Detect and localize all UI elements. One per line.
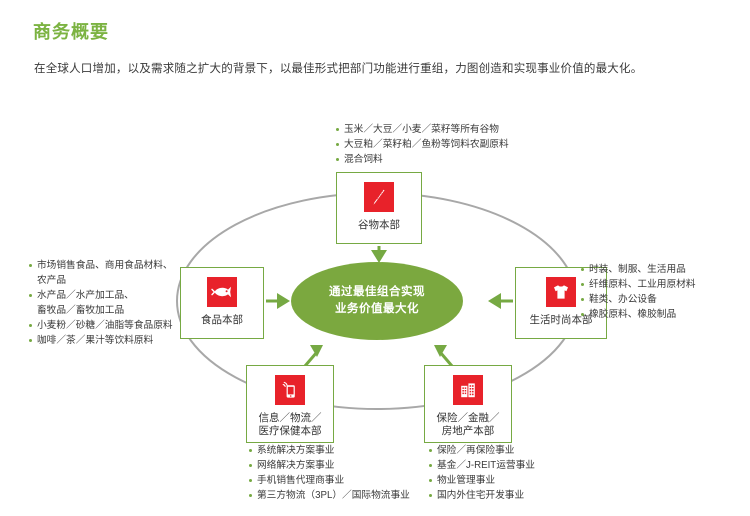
list-item: 物业管理事业 <box>428 473 608 488</box>
arrow-food-to-center <box>266 293 290 309</box>
list-item: 水产品／水产加工品、 畜牧品／畜牧加工品 <box>28 288 188 318</box>
list-item: 大豆粕／菜籽粕／鱼粉等饲料农副原料 <box>335 137 565 152</box>
list-item: 咖啡／茶／果汁等饮料原料 <box>28 333 188 348</box>
list-item: 市场销售食品、商用食品材料、 农产品 <box>28 258 188 288</box>
list-item: 国内外住宅开发事业 <box>428 488 608 503</box>
mobile-phone-icon <box>275 375 305 405</box>
list-item: 系统解决方案事业 <box>248 443 428 458</box>
unit-label-grain: 谷物本部 <box>358 219 400 232</box>
buildings-icon <box>453 375 483 405</box>
list-item: 基金／J-REIT运营事业 <box>428 458 608 473</box>
business-overview-diagram: 通过最佳组合实现 业务价值最大化 谷物本部 食品本部 生 <box>0 100 750 516</box>
page-title: 商务概要 <box>33 18 109 44</box>
unit-box-grain[interactable]: 谷物本部 <box>336 172 422 244</box>
arrow-finance-to-center <box>434 345 452 366</box>
list-item: 纤维原料、工业用原材料 <box>580 277 750 292</box>
list-item: 时装、制服、生活用品 <box>580 262 750 277</box>
list-item: 第三方物流（3PL）／国际物流事业 <box>248 488 428 503</box>
unit-label-ict: 信息／物流／ 医疗保健本部 <box>259 412 322 438</box>
tshirt-icon <box>546 277 576 307</box>
list-item: 混合饲料 <box>335 152 565 167</box>
center-text-line1: 通过最佳组合实现 <box>329 284 425 301</box>
fish-icon <box>207 277 237 307</box>
list-item: 鞋类、办公设备 <box>580 292 750 307</box>
arrow-ict-to-center <box>305 345 323 366</box>
bullet-list-ict: 系统解决方案事业 网络解决方案事业 手机销售代理商事业 第三方物流（3PL）／国… <box>248 443 428 503</box>
list-item: 保险／再保险事业 <box>428 443 608 458</box>
bullet-list-grain: 玉米／大豆／小麦／菜籽等所有谷物 大豆粕／菜籽粕／鱼粉等饲料农副原料 混合饲料 <box>335 122 565 167</box>
bullet-list-finance: 保险／再保险事业 基金／J-REIT运营事业 物业管理事业 国内外住宅开发事业 <box>428 443 608 503</box>
unit-box-ict[interactable]: 信息／物流／ 医疗保健本部 <box>246 365 334 443</box>
unit-label-food: 食品本部 <box>201 314 243 327</box>
list-item: 小麦粉／砂糖／油脂等食品原料 <box>28 318 188 333</box>
bullet-list-lifestyle: 时装、制服、生活用品 纤维原料、工业用原材料 鞋类、办公设备 橡胶原料、橡胶制品 <box>580 262 750 322</box>
center-text-line2: 业务价值最大化 <box>335 301 419 318</box>
list-item: 手机销售代理商事业 <box>248 473 428 488</box>
unit-box-finance[interactable]: 保险／金融／ 房地产本部 <box>424 365 512 443</box>
wheat-stalk-icon <box>364 182 394 212</box>
bullet-list-food: 市场销售食品、商用食品材料、 农产品 水产品／水产加工品、 畜牧品／畜牧加工品 … <box>28 258 188 348</box>
center-ellipse: 通过最佳组合实现 业务价值最大化 <box>291 262 463 340</box>
arrow-lifestyle-to-center <box>488 293 513 309</box>
list-item: 橡胶原料、橡胶制品 <box>580 307 750 322</box>
list-item: 网络解决方案事业 <box>248 458 428 473</box>
arrow-grain-to-center <box>371 246 387 263</box>
list-item: 玉米／大豆／小麦／菜籽等所有谷物 <box>335 122 565 137</box>
unit-box-food[interactable]: 食品本部 <box>180 267 264 339</box>
page-subtitle: 在全球人口增加，以及需求随之扩大的背景下，以最佳形式把部门功能进行重组，力图创造… <box>34 60 642 76</box>
unit-label-finance: 保险／金融／ 房地产本部 <box>437 412 500 438</box>
